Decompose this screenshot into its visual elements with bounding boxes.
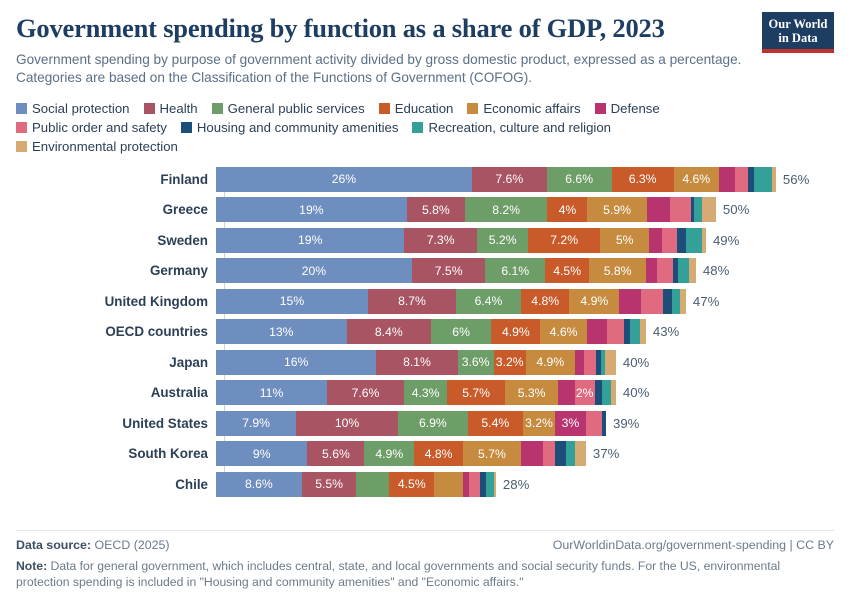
segment-value-label: 6.1% (501, 264, 529, 278)
segment-value-label: 19% (299, 203, 323, 217)
segment-value-label: 4.6% (550, 325, 578, 339)
bar-segment[interactable]: 4.8% (414, 441, 463, 466)
legend-item-label: General public services (228, 101, 365, 116)
stacked-bar[interactable]: 8.6%5.5%4.5% (216, 472, 496, 497)
bar-segment[interactable]: 5% (600, 228, 650, 253)
segment-value-label: 7.2% (550, 233, 578, 247)
bar-segment[interactable]: 16% (216, 350, 376, 375)
chart-row[interactable]: United States7.9%10%6.9%5.4%3.2%3%39% (16, 411, 834, 436)
bar-segment[interactable]: 7.2% (528, 228, 599, 253)
row-total-label: 39% (613, 416, 639, 431)
bar-segment[interactable] (607, 319, 624, 344)
bar-segment[interactable]: 8.6% (216, 472, 302, 497)
stacked-bar[interactable]: 26%7.6%6.6%6.3%4.6% (216, 167, 776, 192)
chart-note: Note: Data for general government, which… (16, 558, 834, 590)
bar-segment[interactable] (662, 228, 677, 253)
segment-value-label: 6.6% (565, 172, 593, 186)
bar-segment[interactable]: 4.9% (364, 441, 414, 466)
bar-segment[interactable] (605, 350, 616, 375)
bar-segment[interactable]: 8.2% (465, 197, 547, 222)
row-label: Australia (16, 385, 216, 400)
legend-item[interactable]: Defense (595, 101, 660, 116)
segment-value-label: 5.7% (478, 447, 506, 461)
attribution-link[interactable]: OurWorldinData.org/government-spending |… (553, 538, 834, 552)
segment-value-label: 2% (576, 386, 594, 400)
row-total-label: 56% (783, 172, 809, 187)
legend-swatch-icon (379, 103, 390, 114)
segment-value-label: 6.3% (629, 172, 657, 186)
bar-segment[interactable]: 7.9% (216, 411, 296, 436)
bar-segment[interactable] (619, 289, 641, 314)
bar-segment[interactable] (641, 289, 662, 314)
bar-segment[interactable]: 3.2% (523, 411, 556, 436)
bar-wrapper: 16%8.1%3.6%3.2%4.9%40% (216, 350, 834, 375)
segment-value-label: 3% (562, 416, 580, 430)
segment-value-label: 4.9% (580, 294, 608, 308)
segment-value-label: 26% (332, 172, 356, 186)
segment-value-label: 4.8% (425, 447, 453, 461)
bar-segment[interactable]: 6% (431, 319, 491, 344)
bar-wrapper: 8.6%5.5%4.5%28% (216, 472, 834, 497)
bar-segment[interactable]: 3.2% (494, 350, 526, 375)
segment-value-label: 19% (298, 233, 322, 247)
bar-segment[interactable]: 5.2% (477, 228, 529, 253)
bar-segment[interactable] (584, 350, 596, 375)
segment-value-label: 4.3% (412, 386, 440, 400)
chart-row[interactable]: Australia11%7.6%4.3%5.7%5.3%2%40% (16, 380, 834, 405)
bar-wrapper: 15%8.7%6.4%4.8%4.9%47% (216, 289, 834, 314)
chart-row[interactable]: OECD countries13%8.4%6%4.9%4.6%43% (16, 319, 834, 344)
bar-wrapper: 19%7.3%5.2%7.2%5%49% (216, 228, 834, 253)
legend-item[interactable]: Recreation, culture and religion (412, 120, 611, 135)
bar-segment[interactable]: 6.1% (485, 258, 545, 283)
segment-value-label: 7.5% (435, 264, 463, 278)
bar-segment[interactable]: 2% (575, 380, 595, 405)
chart-row[interactable]: Finland26%7.6%6.6%6.3%4.6%56% (16, 167, 834, 192)
segment-value-label: 4.8% (531, 294, 559, 308)
bar-wrapper: 19%5.8%8.2%4%5.9%50% (216, 197, 834, 222)
segment-value-label: 6% (452, 325, 470, 339)
segment-value-label: 8.6% (245, 477, 273, 491)
row-total-label: 40% (623, 385, 649, 400)
legend-item-label: Public order and safety (32, 120, 167, 135)
note-label: Note: (16, 559, 47, 573)
row-total-label: 40% (623, 355, 649, 370)
legend-item-label: Education (395, 101, 454, 116)
bar-segment[interactable] (555, 441, 565, 466)
bar-segment[interactable] (434, 472, 463, 497)
segment-value-label: 11% (260, 386, 284, 400)
bar-wrapper: 11%7.6%4.3%5.7%5.3%2%40% (216, 380, 834, 405)
chart-page: Our World in Data Government spending by… (0, 0, 850, 600)
bar-wrapper: 26%7.6%6.6%6.3%4.6%56% (216, 167, 834, 192)
chart-plot-area: Finland26%7.6%6.6%6.3%4.6%56%Greece19%5.… (16, 167, 834, 497)
legend-item[interactable]: Public order and safety (16, 120, 167, 135)
bar-segment[interactable] (647, 197, 670, 222)
bar-segment[interactable]: 4.6% (540, 319, 586, 344)
segment-value-label: 5.5% (315, 477, 343, 491)
bar-segment[interactable] (587, 319, 607, 344)
chart-header: Our World in Data Government spending by… (16, 0, 834, 88)
row-total-label: 28% (503, 477, 529, 492)
bar-segment[interactable] (677, 228, 686, 253)
legend-swatch-icon (16, 122, 27, 133)
bar-segment[interactable] (735, 167, 749, 192)
bar-segment[interactable] (543, 441, 555, 466)
stacked-bar[interactable]: 7.9%10%6.9%5.4%3.2%3% (216, 411, 606, 436)
segment-value-label: 3.2% (525, 416, 553, 430)
bar-segment[interactable]: 8.4% (347, 319, 431, 344)
stacked-bar[interactable]: 19%7.3%5.2%7.2%5% (216, 228, 706, 253)
segment-value-label: 5% (616, 233, 634, 247)
bar-segment[interactable] (649, 228, 662, 253)
bar-segment[interactable]: 6.6% (547, 167, 612, 192)
bar-segment[interactable]: 4.6% (674, 167, 719, 192)
segment-value-label: 7.3% (427, 233, 455, 247)
legend-item-label: Defense (611, 101, 660, 116)
stacked-bar[interactable]: 15%8.7%6.4%4.8%4.9% (216, 289, 686, 314)
bar-segment[interactable] (772, 167, 776, 192)
bar-segment[interactable] (494, 472, 496, 497)
bar-segment[interactable] (657, 258, 674, 283)
bar-segment[interactable] (702, 197, 716, 222)
legend-swatch-icon (16, 141, 27, 152)
row-label: Chile (16, 477, 216, 492)
segment-value-label: 8.4% (375, 325, 403, 339)
bar-segment[interactable] (689, 258, 696, 283)
bar-segment[interactable]: 7.3% (404, 228, 476, 253)
bar-segment[interactable]: 19% (216, 228, 404, 253)
chart-row[interactable]: Japan16%8.1%3.6%3.2%4.9%40% (16, 350, 834, 375)
note-value: Data for general government, which inclu… (16, 559, 780, 589)
row-label: South Korea (16, 446, 216, 461)
segment-value-label: 10% (335, 416, 359, 430)
stacked-bar[interactable]: 16%8.1%3.6%3.2%4.9% (216, 350, 616, 375)
bar-segment[interactable] (595, 380, 602, 405)
bar-segment[interactable]: 4.9% (569, 289, 619, 314)
bar-segment[interactable] (630, 319, 640, 344)
segment-value-label: 7.6% (495, 172, 523, 186)
owid-logo-line1: Our World (766, 17, 830, 31)
page-title: Government spending by function as a sha… (16, 14, 756, 43)
bar-segment[interactable]: 5.8% (589, 258, 646, 283)
row-total-label: 49% (713, 233, 739, 248)
legend-swatch-icon (16, 103, 27, 114)
bar-wrapper: 13%8.4%6%4.9%4.6%43% (216, 319, 834, 344)
chart-row[interactable]: Germany20%7.5%6.1%4.5%5.8%48% (16, 258, 834, 283)
segment-value-label: 16% (284, 355, 308, 369)
bar-segment[interactable] (521, 441, 543, 466)
bar-segment[interactable]: 6.9% (398, 411, 468, 436)
row-label: Finland (16, 172, 216, 187)
legend-swatch-icon (467, 103, 478, 114)
segment-value-label: 8.2% (492, 203, 520, 217)
legend-item[interactable]: Environmental protection (16, 139, 178, 154)
bar-segment[interactable] (558, 380, 574, 405)
bar-segment[interactable]: 6.3% (612, 167, 674, 192)
legend-item[interactable]: Housing and community amenities (181, 120, 399, 135)
footer-divider (16, 530, 834, 531)
bar-segment[interactable]: 4.5% (545, 258, 589, 283)
segment-value-label: 4.6% (682, 172, 710, 186)
row-total-label: 43% (653, 324, 679, 339)
bar-segment[interactable] (640, 319, 646, 344)
bar-segment[interactable]: 20% (216, 258, 412, 283)
bar-segment[interactable]: 4.5% (389, 472, 434, 497)
segment-value-label: 8.1% (403, 355, 431, 369)
data-source-value: OECD (2025) (91, 538, 170, 552)
bar-segment[interactable]: 7.5% (412, 258, 485, 283)
segment-value-label: 5.8% (422, 203, 450, 217)
chart-footer: Data source: OECD (2025) OurWorldinData.… (16, 530, 834, 590)
legend-swatch-icon (144, 103, 155, 114)
segment-value-label: 6.9% (419, 416, 447, 430)
data-source-label: Data source: (16, 538, 91, 552)
bar-segment[interactable] (611, 380, 616, 405)
bar-segment[interactable]: 5.7% (463, 441, 521, 466)
chart-subtitle: Government spending by purpose of govern… (16, 51, 746, 88)
segment-value-label: 5.4% (481, 416, 509, 430)
owid-logo-line2: in Data (766, 31, 830, 45)
stacked-bar[interactable]: 13%8.4%6%4.9%4.6% (216, 319, 646, 344)
bar-wrapper: 7.9%10%6.9%5.4%3.2%3%39% (216, 411, 834, 436)
stacked-bar[interactable]: 20%7.5%6.1%4.5%5.8% (216, 258, 696, 283)
bar-segment[interactable]: 3% (555, 411, 585, 436)
chart-row[interactable]: South Korea9%5.6%4.9%4.8%5.7%37% (16, 441, 834, 466)
bar-wrapper: 20%7.5%6.1%4.5%5.8%48% (216, 258, 834, 283)
legend-item-label: Environmental protection (32, 139, 178, 154)
legend-item[interactable]: Social protection (16, 101, 130, 116)
bar-segment[interactable] (602, 380, 611, 405)
bar-segment[interactable]: 26% (216, 167, 472, 192)
bar-segment[interactable] (680, 289, 686, 314)
data-source: Data source: OECD (2025) (16, 538, 170, 552)
bar-segment[interactable]: 5.4% (468, 411, 523, 436)
bar-segment[interactable]: 4.9% (491, 319, 540, 344)
bar-segment[interactable] (602, 411, 606, 436)
chart-row[interactable]: Sweden19%7.3%5.2%7.2%5%49% (16, 228, 834, 253)
segment-value-label: 4.9% (502, 325, 530, 339)
bar-segment[interactable]: 13% (216, 319, 347, 344)
chart-legend: Social protectionHealthGeneral public se… (16, 101, 776, 158)
bar-segment[interactable]: 4.3% (404, 380, 447, 405)
row-total-label: 47% (693, 294, 719, 309)
segment-value-label: 9% (253, 447, 271, 461)
bar-segment[interactable] (663, 289, 672, 314)
bar-segment[interactable]: 4.9% (526, 350, 575, 375)
bar-segment[interactable] (754, 167, 772, 192)
segment-value-label: 13% (269, 325, 293, 339)
bar-segment[interactable] (694, 197, 702, 222)
bar-segment[interactable]: 7.6% (327, 380, 404, 405)
row-total-label: 48% (703, 263, 729, 278)
chart-row[interactable]: Chile8.6%5.5%4.5%28% (16, 472, 834, 497)
segment-value-label: 4% (559, 203, 577, 217)
segment-value-label: 4.9% (536, 355, 564, 369)
legend-item-label: Social protection (32, 101, 130, 116)
row-total-label: 37% (593, 446, 619, 461)
bar-segment[interactable]: 10% (296, 411, 398, 436)
bar-segment[interactable] (566, 441, 575, 466)
segment-value-label: 4.5% (553, 264, 581, 278)
segment-value-label: 3.2% (496, 355, 524, 369)
segment-value-label: 7.6% (352, 386, 380, 400)
segment-value-label: 5.3% (518, 386, 546, 400)
row-total-label: 50% (723, 202, 749, 217)
stacked-bar[interactable]: 9%5.6%4.9%4.8%5.7% (216, 441, 586, 466)
bar-segment[interactable]: 5.3% (505, 380, 559, 405)
segment-value-label: 4.5% (398, 477, 426, 491)
bar-segment[interactable]: 5.5% (302, 472, 357, 497)
row-label: United States (16, 416, 216, 431)
segment-value-label: 4.9% (375, 447, 403, 461)
bar-segment[interactable] (469, 472, 480, 497)
bar-segment[interactable]: 6.4% (456, 289, 521, 314)
segment-value-label: 6.4% (475, 294, 503, 308)
segment-value-label: 5.9% (603, 203, 631, 217)
bar-segment[interactable] (646, 258, 657, 283)
bar-segment[interactable] (575, 350, 584, 375)
segment-value-label: 5.2% (489, 233, 517, 247)
chart-row[interactable]: Greece19%5.8%8.2%4%5.9%50% (16, 197, 834, 222)
segment-value-label: 5.7% (462, 386, 490, 400)
row-label: Sweden (16, 233, 216, 248)
bar-segment[interactable]: 7.6% (472, 167, 547, 192)
row-label: United Kingdom (16, 294, 216, 309)
bar-segment[interactable] (719, 167, 735, 192)
bar-segment[interactable]: 8.1% (376, 350, 457, 375)
segment-value-label: 5.6% (322, 447, 350, 461)
bar-segment[interactable] (486, 472, 494, 497)
bar-segment[interactable]: 11% (216, 380, 327, 405)
bar-segment[interactable]: 5.8% (407, 197, 465, 222)
row-label: Germany (16, 263, 216, 278)
bar-segment[interactable] (586, 411, 602, 436)
bar-segment[interactable] (672, 289, 680, 314)
bar-segment[interactable]: 3.6% (458, 350, 494, 375)
stacked-bar[interactable]: 19%5.8%8.2%4%5.9% (216, 197, 716, 222)
legend-item[interactable]: General public services (212, 101, 365, 116)
stacked-bar[interactable]: 11%7.6%4.3%5.7%5.3%2% (216, 380, 616, 405)
bar-segment[interactable] (575, 441, 586, 466)
segment-value-label: 8.7% (398, 294, 426, 308)
bar-segment[interactable]: 4.8% (521, 289, 570, 314)
segment-value-label: 3.6% (462, 355, 490, 369)
bar-segment[interactable]: 9% (216, 441, 307, 466)
segment-value-label: 5.8% (604, 264, 632, 278)
owid-logo[interactable]: Our World in Data (762, 12, 834, 53)
bar-segment[interactable] (678, 258, 689, 283)
bar-segment[interactable] (686, 228, 702, 253)
bar-segment[interactable]: 5.7% (447, 380, 505, 405)
legend-swatch-icon (181, 122, 192, 133)
legend-item-label: Economic affairs (483, 101, 580, 116)
legend-swatch-icon (212, 103, 223, 114)
segment-value-label: 15% (280, 294, 304, 308)
bar-segment[interactable]: 5.9% (587, 197, 646, 222)
row-label: OECD countries (16, 324, 216, 339)
bar-segment[interactable]: 5.6% (307, 441, 364, 466)
bar-segment[interactable]: 8.7% (368, 289, 456, 314)
bar-wrapper: 9%5.6%4.9%4.8%5.7%37% (216, 441, 834, 466)
segment-value-label: 20% (302, 264, 326, 278)
row-label: Japan (16, 355, 216, 370)
legend-item[interactable]: Health (144, 101, 198, 116)
legend-swatch-icon (595, 103, 606, 114)
bar-segment[interactable]: 4% (547, 197, 587, 222)
legend-swatch-icon (412, 122, 423, 133)
bar-segment[interactable]: 19% (216, 197, 407, 222)
legend-item[interactable]: Economic affairs (467, 101, 580, 116)
bar-segment[interactable]: 15% (216, 289, 368, 314)
legend-item-label: Recreation, culture and religion (428, 120, 611, 135)
segment-value-label: 7.9% (242, 416, 270, 430)
legend-item[interactable]: Education (379, 101, 454, 116)
row-label: Greece (16, 202, 216, 217)
bar-segment[interactable] (670, 197, 691, 222)
legend-item-label: Health (160, 101, 198, 116)
bar-segment[interactable] (356, 472, 389, 497)
chart-row[interactable]: United Kingdom15%8.7%6.4%4.8%4.9%47% (16, 289, 834, 314)
bar-segment[interactable] (702, 228, 706, 253)
legend-item-label: Housing and community amenities (197, 120, 399, 135)
